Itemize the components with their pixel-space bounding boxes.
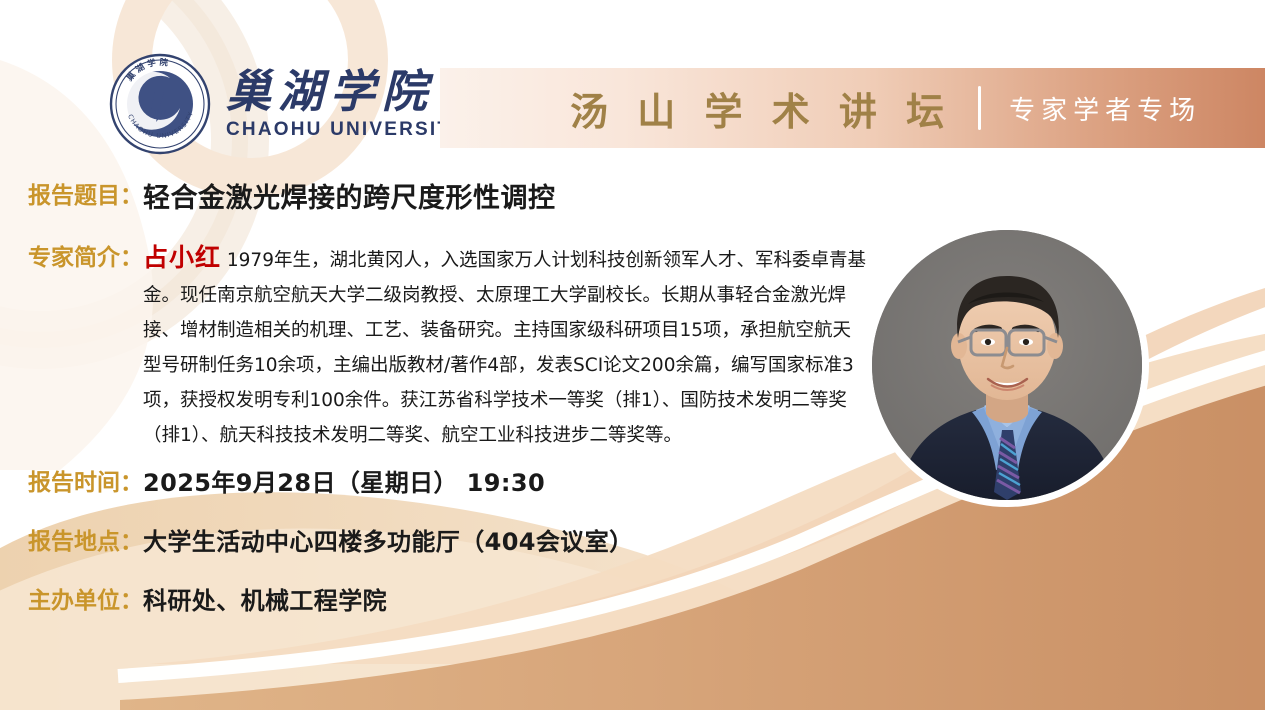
forum-banner: 汤 山 学 术 讲 坛 专家学者专场 <box>440 68 1265 148</box>
report-title-label: 报告题目： <box>28 176 143 210</box>
speaker-portrait <box>872 230 1142 500</box>
report-place-label: 报告地点： <box>28 522 143 556</box>
organizer-row: 主办单位： 科研处、机械工程学院 <box>28 581 387 616</box>
chaohu-university-seal-icon: 1977 巢 湖 学 院 CHAOHU UNIVERSITY <box>108 52 212 156</box>
speaker-bio-text: 1979年生，湖北黄冈人，入选国家万人计划科技创新领军人才、军科委卓青基金。现任… <box>143 250 866 446</box>
report-title-row: 报告题目： 轻合金激光焊接的跨尺度形性调控 <box>28 176 556 215</box>
speaker-bio-body: 占小红 1979年生，湖北黄冈人，入选国家万人计划科技创新领军人才、军科委卓青基… <box>143 238 869 453</box>
speaker-name: 占小红 <box>143 244 221 272</box>
banner-main-title: 汤 山 学 术 讲 坛 <box>570 81 952 136</box>
university-logo: 1977 巢 湖 学 院 CHAOHU UNIVERSITY 巢湖学院 CHAO… <box>108 52 466 156</box>
report-time-label: 报告时间： <box>28 463 143 497</box>
speaker-bio-label: 专家简介： <box>28 238 143 272</box>
speaker-portrait-image <box>872 230 1142 500</box>
report-place-row: 报告地点： 大学生活动中心四楼多功能厅（404会议室） <box>28 522 634 557</box>
report-time-value: 2025年9月28日（星期日） 19:30 <box>143 463 545 498</box>
report-title-value: 轻合金激光焊接的跨尺度形性调控 <box>143 176 556 215</box>
organizer-label: 主办单位： <box>28 581 143 615</box>
speaker-bio-row: 专家简介： 占小红 1979年生，湖北黄冈人，入选国家万人计划科技创新领军人才、… <box>28 238 873 453</box>
banner-divider <box>978 86 981 130</box>
organizer-value: 科研处、机械工程学院 <box>143 581 387 616</box>
svg-text:1977: 1977 <box>154 110 167 116</box>
banner-sub-title: 专家学者专场 <box>1009 90 1201 127</box>
report-time-row: 报告时间： 2025年9月28日（星期日） 19:30 <box>28 463 545 498</box>
report-place-value: 大学生活动中心四楼多功能厅（404会议室） <box>143 522 634 557</box>
poster-header: 1977 巢 湖 学 院 CHAOHU UNIVERSITY 巢湖学院 CHAO… <box>0 0 1265 160</box>
logo-name-cn: 巢湖学院 <box>226 67 466 117</box>
logo-name-en: CHAOHU UNIVERSITY <box>226 120 466 141</box>
seminar-poster: 1977 巢 湖 学 院 CHAOHU UNIVERSITY 巢湖学院 CHAO… <box>0 0 1265 710</box>
